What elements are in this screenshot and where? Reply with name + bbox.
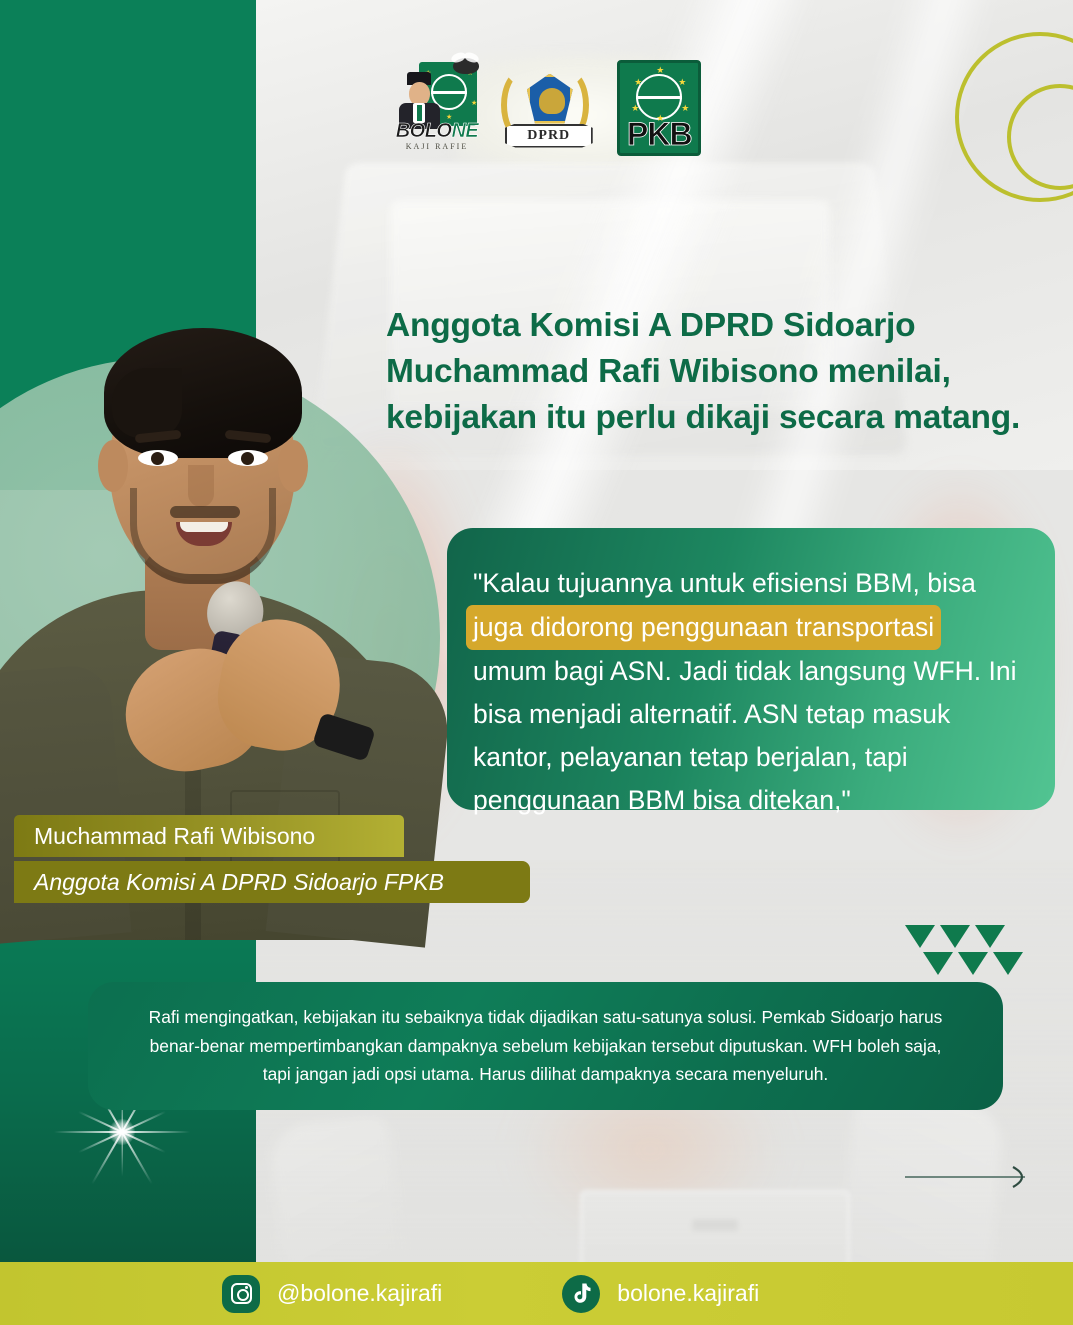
- speaker-name-bar: Muchammad Rafi Wibisono: [14, 815, 404, 857]
- description-text: Rafi mengingatkan, kebijakan itu sebaikn…: [140, 1003, 951, 1089]
- pkb-logo: ★ ★ ★ ★ ★ ★ PKB: [617, 60, 695, 156]
- quote-line: kantor, pelayanan tetap berjalan, tapi: [473, 742, 908, 772]
- tiktok-link[interactable]: bolone.kajirafi: [562, 1275, 759, 1313]
- bee-icon: [453, 58, 479, 74]
- quote-line: penggunaan BBM bisa ditekan,": [473, 785, 851, 815]
- quote-line: bisa menjadi alternatif. ASN tetap masuk: [473, 699, 950, 729]
- quote-line: "Kalau tujuannya untuk efisiensi BBM, bi…: [473, 568, 976, 598]
- page-title: Anggota Komisi A DPRD Sidoarjo Muchammad…: [386, 303, 1036, 441]
- speaker-role-bar: Anggota Komisi A DPRD Sidoarjo FPKB: [14, 861, 530, 903]
- description-card: Rafi mengingatkan, kebijakan itu sebaikn…: [88, 982, 1003, 1110]
- logo-row: ★ ★ ★ ★ ★ BOLONE KAJI RAFIE DPRD ★: [395, 55, 695, 160]
- pkb-label: PKB: [617, 116, 701, 153]
- dprd-emblem: DPRD: [499, 60, 592, 156]
- bolone-tagline: KAJI RAFIE: [393, 142, 481, 151]
- quote-card: "Kalau tujuannya untuk efisiensi BBM, bi…: [447, 528, 1055, 810]
- instagram-link[interactable]: @bolone.kajirafi: [222, 1275, 442, 1313]
- bolone-logo: ★ ★ ★ ★ ★ BOLONE KAJI RAFIE: [395, 60, 473, 156]
- instagram-icon[interactable]: [222, 1275, 260, 1313]
- tiktok-handle[interactable]: bolone.kajirafi: [617, 1280, 759, 1307]
- poster-canvas: ★ ★ ★ ★ ★ BOLONE KAJI RAFIE DPRD ★: [0, 0, 1073, 1325]
- right-arrow-decoration: [905, 1165, 1035, 1189]
- bolone-word-bolo: BOLO: [396, 120, 452, 142]
- quote-line: umum bagi ASN. Jadi tidak langsung WFH. …: [473, 656, 1017, 686]
- tiktok-icon[interactable]: [562, 1275, 600, 1313]
- triangle-cluster-decoration: [905, 925, 1015, 985]
- bolone-word-ne: NE: [451, 120, 478, 142]
- concentric-circles-decoration: [955, 32, 1073, 222]
- instagram-handle[interactable]: @bolone.kajirafi: [277, 1280, 442, 1307]
- footer-bar: @bolone.kajirafi bolone.kajirafi: [0, 1262, 1073, 1325]
- quote-line-highlighted: juga didorong penggunaan transportasi: [466, 605, 941, 650]
- dprd-label: DPRD: [527, 128, 570, 144]
